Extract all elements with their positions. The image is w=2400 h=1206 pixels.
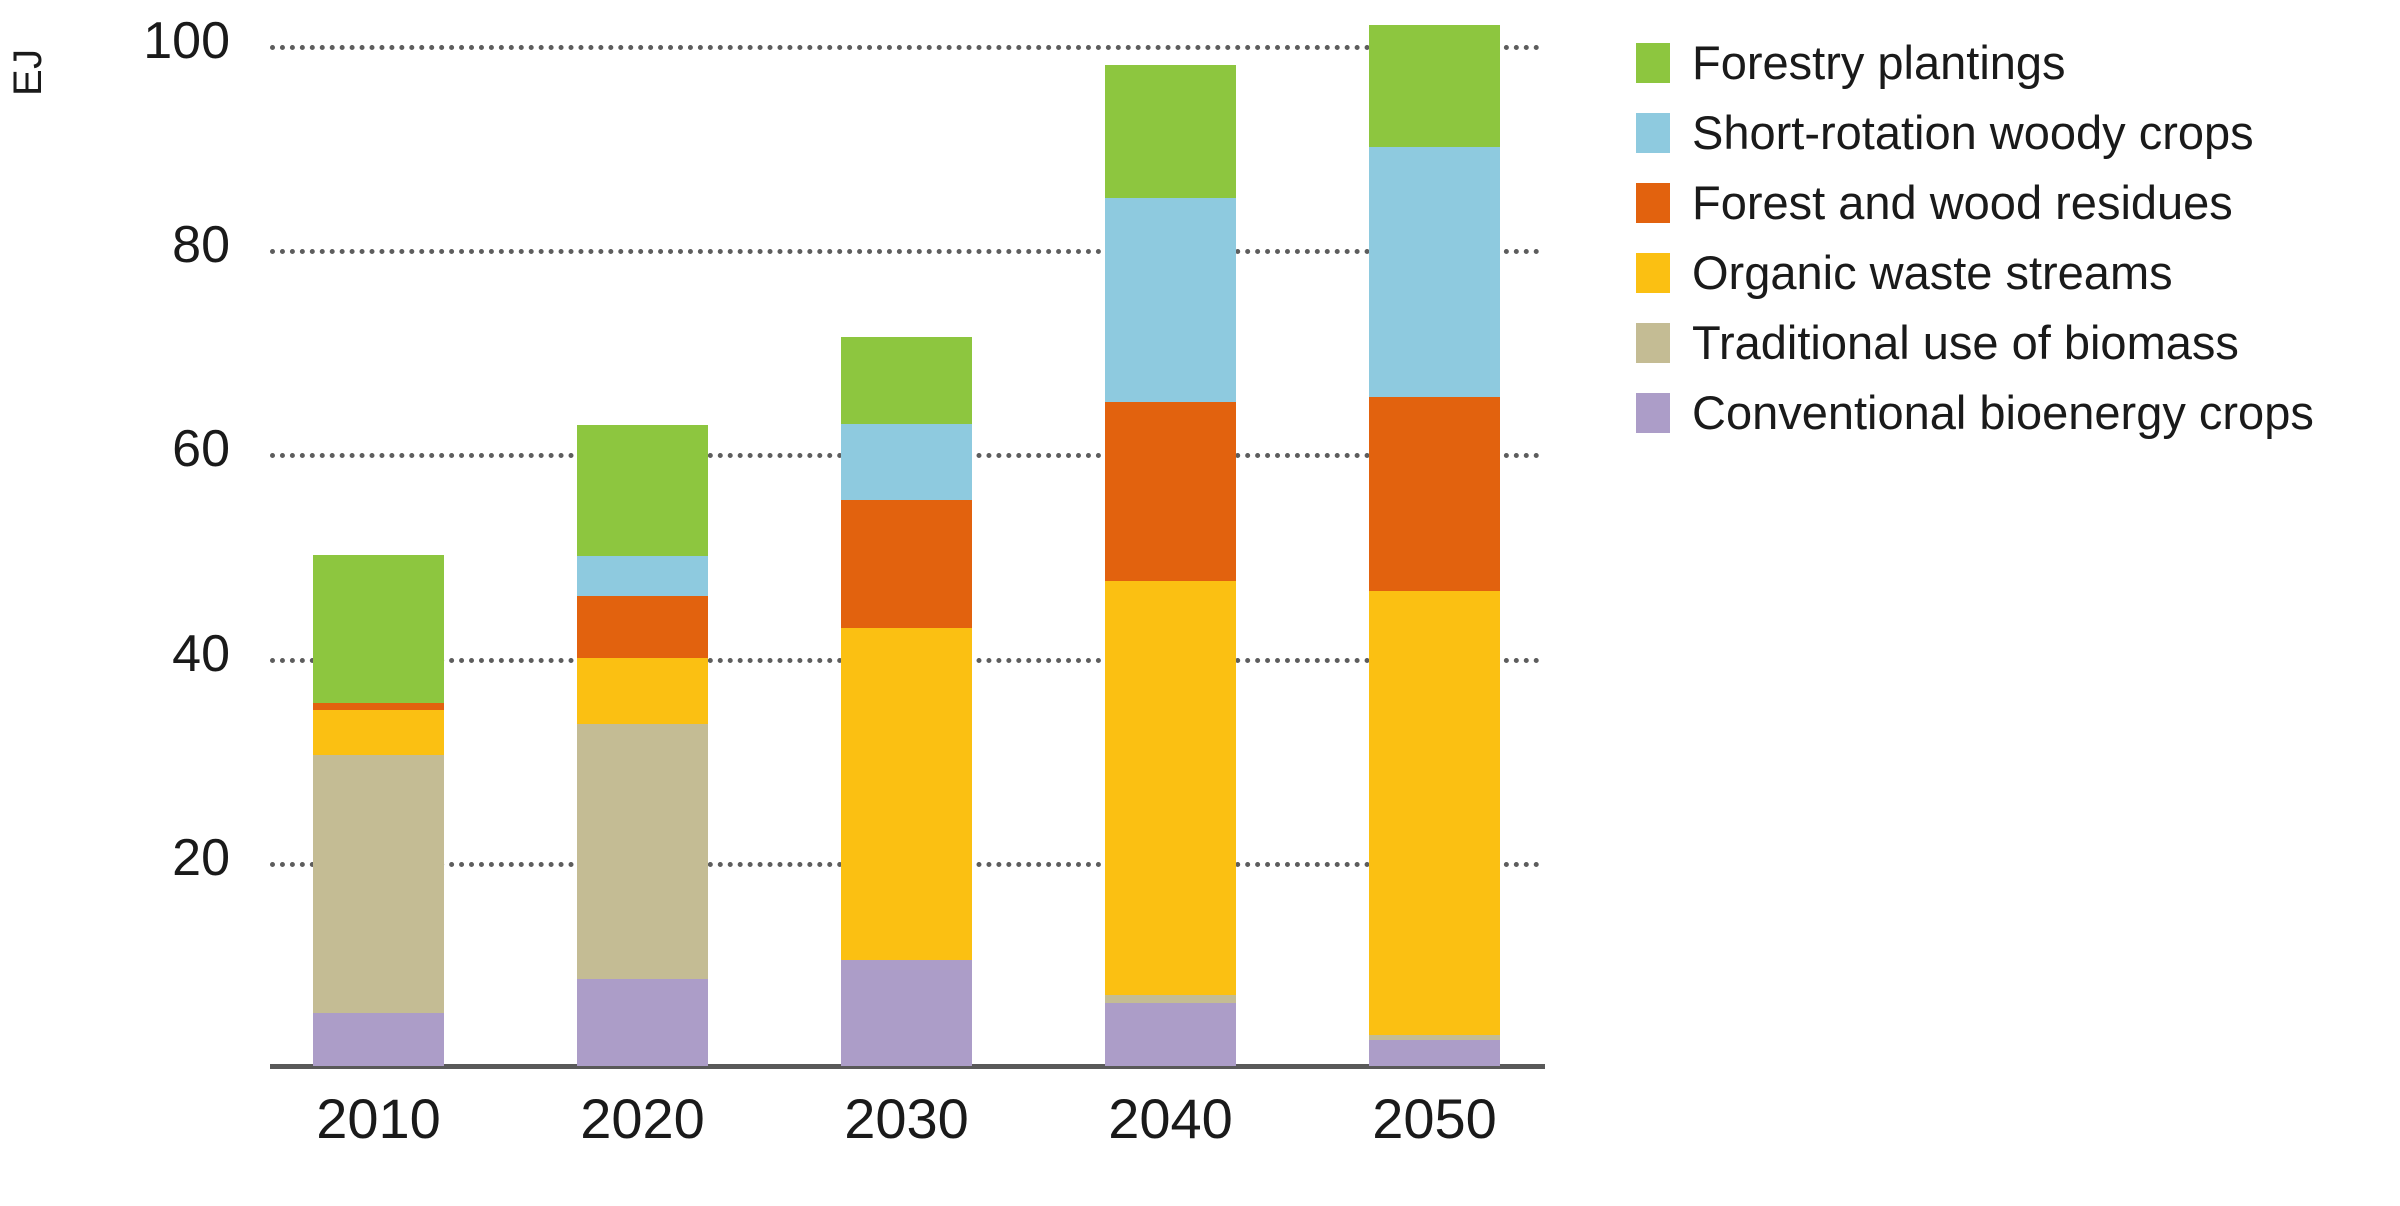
legend-item-label: Conventional bioenergy crops: [1692, 388, 2314, 437]
bar-segment[interactable]: [841, 424, 972, 501]
bar-segment[interactable]: [577, 658, 708, 724]
legend-item[interactable]: Short-rotation woody crops: [1636, 98, 2400, 168]
legend-swatch-icon: [1636, 253, 1670, 293]
x-tick-2030: 2030: [777, 1086, 1037, 1151]
bar-2010[interactable]: [313, 555, 444, 1066]
legend-item[interactable]: Conventional bioenergy crops: [1636, 378, 2400, 448]
bar-segment[interactable]: [1105, 995, 1236, 1003]
bar-segment[interactable]: [313, 703, 444, 710]
legend-item-label: Short-rotation woody crops: [1692, 108, 2254, 157]
x-tick-2050: 2050: [1305, 1086, 1565, 1151]
legend-item-label: Forest and wood residues: [1692, 178, 2233, 227]
bar-segment[interactable]: [1369, 591, 1500, 1035]
legend-swatch-icon: [1636, 183, 1670, 223]
bar-segment[interactable]: [1369, 25, 1500, 148]
bar-segment[interactable]: [1105, 65, 1236, 198]
bar-segment[interactable]: [841, 628, 972, 960]
plot-area: EJ 10080604020 20102020203020402050: [0, 0, 1600, 1206]
x-tick-2040: 2040: [1041, 1086, 1301, 1151]
legend-item[interactable]: Forest and wood residues: [1636, 168, 2400, 238]
bar-segment[interactable]: [577, 556, 708, 597]
bar-2040[interactable]: [1105, 65, 1236, 1066]
legend-swatch-icon: [1636, 393, 1670, 433]
y-tick-80: 80: [80, 219, 230, 271]
x-tick-2020: 2020: [513, 1086, 773, 1151]
legend-item-label: Forestry plantings: [1692, 38, 2066, 87]
bar-segment[interactable]: [313, 555, 444, 703]
bar-segment[interactable]: [841, 500, 972, 628]
legend-item[interactable]: Organic waste streams: [1636, 238, 2400, 308]
bar-segment[interactable]: [313, 710, 444, 755]
y-tick-20: 20: [80, 832, 230, 884]
bar-segment[interactable]: [1369, 147, 1500, 397]
legend-item-label: Organic waste streams: [1692, 248, 2173, 297]
legend-item-label: Traditional use of biomass: [1692, 318, 2239, 367]
bar-segment[interactable]: [577, 425, 708, 556]
bar-2030[interactable]: [841, 337, 972, 1066]
chart-figure: EJ 10080604020 20102020203020402050 Fore…: [0, 0, 2400, 1206]
x-tick-2010: 2010: [249, 1086, 509, 1151]
y-tick-40: 40: [80, 628, 230, 680]
legend-item[interactable]: Traditional use of biomass: [1636, 308, 2400, 378]
y-tick-60: 60: [80, 423, 230, 475]
y-axis-unit-label: EJ: [6, 36, 51, 96]
legend-swatch-icon: [1636, 113, 1670, 153]
bar-segment[interactable]: [1369, 1040, 1500, 1066]
bar-segment[interactable]: [313, 755, 444, 1013]
gridline-100: [270, 45, 1540, 50]
y-tick-100: 100: [80, 15, 230, 67]
bar-segment[interactable]: [577, 596, 708, 657]
bar-segment[interactable]: [841, 960, 972, 1066]
bar-segment[interactable]: [313, 1013, 444, 1066]
bar-segment[interactable]: [577, 979, 708, 1066]
bar-segment[interactable]: [1369, 397, 1500, 591]
bar-2050[interactable]: [1369, 25, 1500, 1066]
bar-segment[interactable]: [1105, 581, 1236, 995]
legend: Forestry plantingsShort-rotation woody c…: [1636, 28, 2400, 448]
bar-segment[interactable]: [1105, 402, 1236, 581]
bar-segment[interactable]: [841, 337, 972, 424]
bar-segment[interactable]: [577, 724, 708, 979]
gridline-80: [270, 249, 1540, 254]
legend-item[interactable]: Forestry plantings: [1636, 28, 2400, 98]
legend-swatch-icon: [1636, 43, 1670, 83]
bar-2020[interactable]: [577, 425, 708, 1066]
bar-segment[interactable]: [1105, 1003, 1236, 1066]
bar-segment[interactable]: [1105, 198, 1236, 402]
legend-swatch-icon: [1636, 323, 1670, 363]
